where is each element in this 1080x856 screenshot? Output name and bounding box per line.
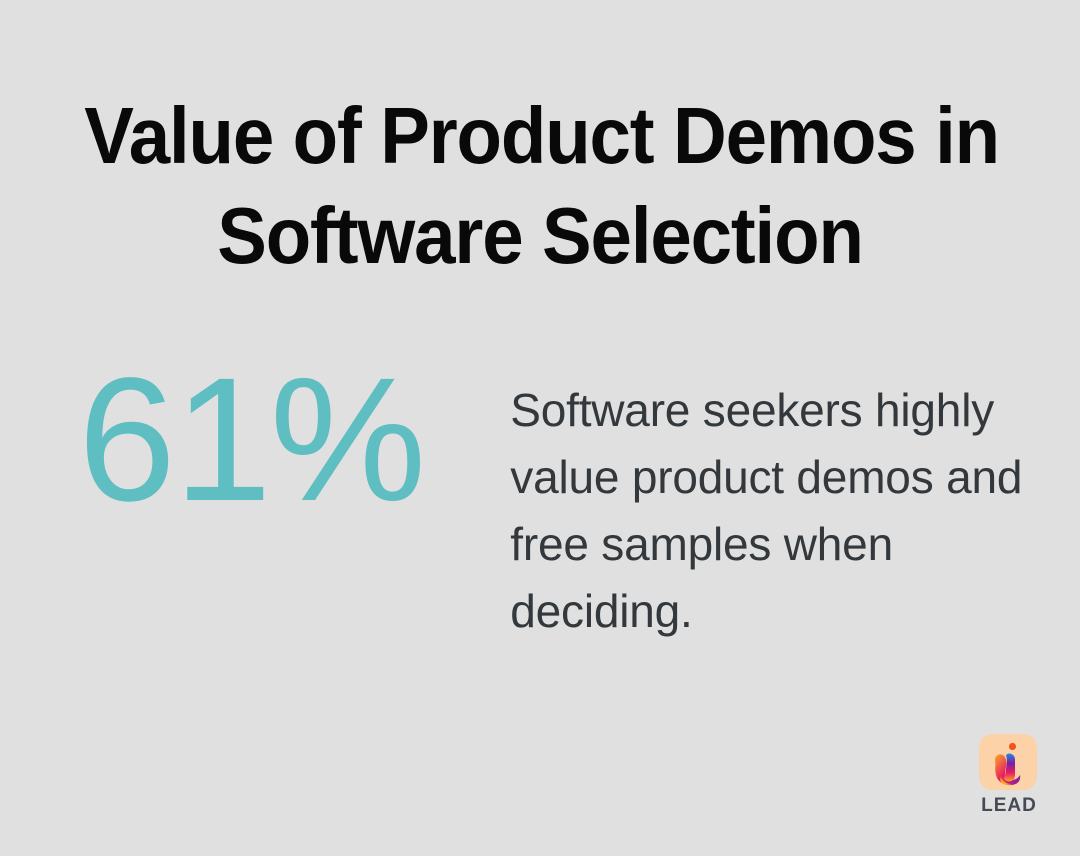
title-line-2: Software Selection	[84, 186, 995, 286]
title-line-1: Value of Product Demos in	[84, 86, 995, 186]
infographic-canvas: Value of Product Demos in Software Selec…	[0, 0, 1080, 856]
brand-logo: LEAD	[979, 734, 1039, 816]
logo-wordmark: LEAD	[979, 796, 1039, 816]
lead-bird-i-icon	[979, 734, 1037, 790]
stat-description: Software seekers highly value product de…	[510, 355, 1022, 645]
statistic-row: 61% Software seekers highly value produc…	[78, 355, 1018, 645]
stat-percentage: 61%	[78, 355, 424, 515]
page-title: Value of Product Demos in Software Selec…	[50, 86, 1030, 286]
